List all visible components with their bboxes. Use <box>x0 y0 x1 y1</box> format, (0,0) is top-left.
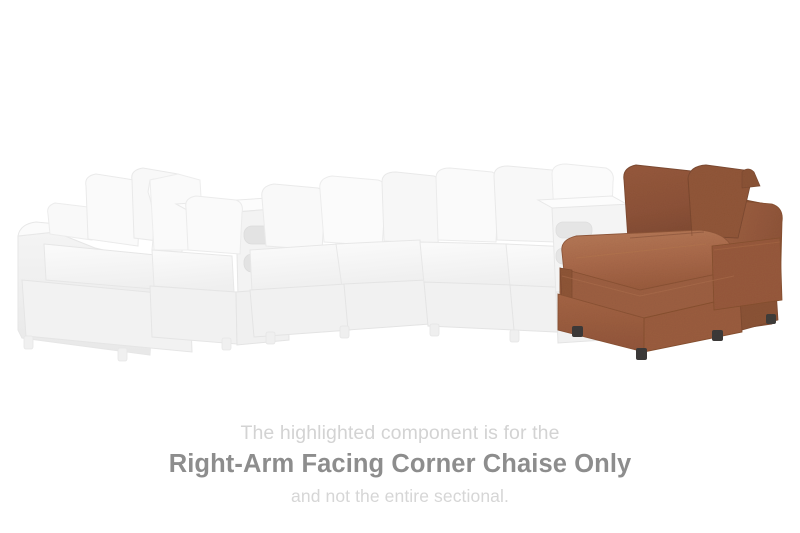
ghost-foot-4 <box>266 332 275 344</box>
ghost-foot-5 <box>340 326 349 338</box>
ghost-foot-1 <box>24 336 33 349</box>
caption-line-lead: The highlighted component is for the <box>0 418 800 448</box>
caption-line-disclaimer: and not the entire sectional. <box>0 481 800 511</box>
chaise-foot-front-center <box>636 348 647 360</box>
chaise-foot-front-left <box>572 326 583 337</box>
ghost-seat-cushion-5 <box>420 242 512 286</box>
chaise-cushion-notch <box>742 169 760 188</box>
ghost-seat-cushion-4 <box>336 240 424 287</box>
ghost-seat-cushion-2 <box>152 250 234 292</box>
ghost-seat-base-3 <box>250 284 350 337</box>
ghost-foot-7 <box>510 330 519 342</box>
sectional-sofa-svg <box>0 0 800 400</box>
ghost-foot-6 <box>430 324 439 336</box>
caption-block: The highlighted component is for the Rig… <box>0 418 800 511</box>
ghost-back-cushion-corner <box>382 172 441 244</box>
ghost-back-cushion-4 <box>186 196 243 254</box>
ghost-seat-base-5 <box>424 282 514 330</box>
ghosted-sectional-group <box>18 164 634 361</box>
ghost-back-cushion-6 <box>320 176 387 246</box>
ghost-back-cushion-5 <box>262 184 326 250</box>
sectional-product-illustration <box>0 0 800 400</box>
chaise-foot-back-right <box>766 314 776 324</box>
ghost-foot-2 <box>118 348 127 361</box>
ghost-back-cushion-7 <box>436 168 499 242</box>
caption-line-component-name: Right-Arm Facing Corner Chaise Only <box>0 448 800 481</box>
ghost-seat-base-2 <box>150 286 237 344</box>
ghost-foot-3 <box>222 338 231 350</box>
product-highlight-screen: The highlighted component is for the Rig… <box>0 0 800 533</box>
ghost-seat-base-4 <box>344 280 430 330</box>
chaise-foot-right <box>712 330 723 341</box>
